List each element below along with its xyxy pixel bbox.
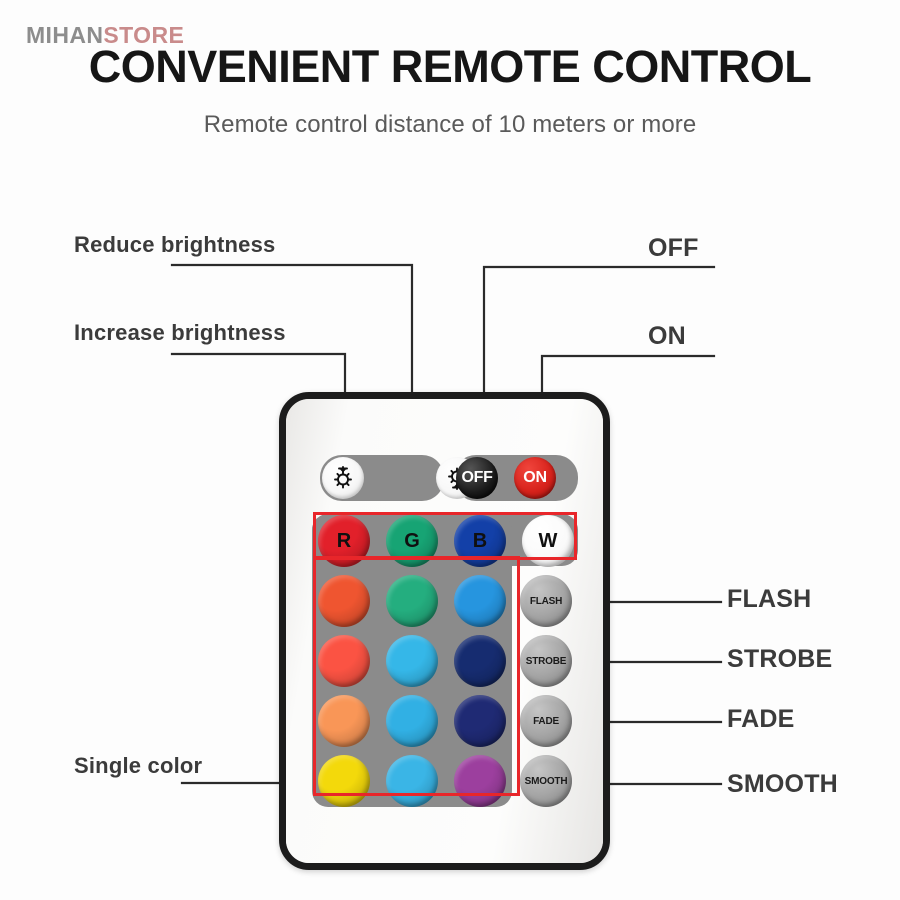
color-button-4-2[interactable] bbox=[454, 755, 506, 807]
on-button[interactable]: ON bbox=[514, 457, 556, 499]
callout-strobe: STROBE bbox=[727, 645, 832, 674]
flash-button[interactable]: FLASH bbox=[520, 575, 572, 627]
page-subtitle: Remote control distance of 10 meters or … bbox=[0, 111, 900, 139]
reduce-brightness-button[interactable] bbox=[322, 457, 364, 499]
color-button-w[interactable]: W bbox=[522, 515, 574, 567]
color-button-label: W bbox=[539, 530, 558, 553]
color-button-3-0[interactable] bbox=[318, 695, 370, 747]
infographic-page: MIHANSTORE CONVENIENT REMOTE CONTROL Rem… bbox=[0, 0, 900, 900]
color-button-1-0[interactable] bbox=[318, 575, 370, 627]
remote-control-device: OFF ON R G B W bbox=[279, 392, 610, 870]
remote-faceplate: OFF ON R G B W bbox=[286, 399, 603, 863]
color-button-label: R bbox=[337, 530, 351, 553]
off-button[interactable]: OFF bbox=[456, 457, 498, 499]
color-button-1-2[interactable] bbox=[454, 575, 506, 627]
callout-reduce-brightness: Reduce brightness bbox=[74, 232, 275, 258]
color-button-2-1[interactable] bbox=[386, 635, 438, 687]
color-button-3-1[interactable] bbox=[386, 695, 438, 747]
color-button-r[interactable]: R bbox=[318, 515, 370, 567]
color-button-label: B bbox=[473, 530, 487, 553]
color-button-4-1[interactable] bbox=[386, 755, 438, 807]
fade-button[interactable]: FADE bbox=[520, 695, 572, 747]
page-title: CONVENIENT REMOTE CONTROL bbox=[0, 43, 900, 90]
callout-increase-brightness: Increase brightness bbox=[74, 320, 286, 346]
callout-single-color: Single color bbox=[74, 753, 202, 779]
color-button-3-2[interactable] bbox=[454, 695, 506, 747]
color-button-4-0[interactable] bbox=[318, 755, 370, 807]
callout-on: ON bbox=[648, 322, 686, 351]
color-button-label: G bbox=[404, 530, 420, 553]
smooth-button[interactable]: SMOOTH bbox=[520, 755, 572, 807]
sun-down-icon bbox=[328, 463, 358, 493]
callout-smooth: SMOOTH bbox=[727, 770, 838, 799]
strobe-button[interactable]: STROBE bbox=[520, 635, 572, 687]
color-button-2-0[interactable] bbox=[318, 635, 370, 687]
color-button-g[interactable]: G bbox=[386, 515, 438, 567]
callout-flash: FLASH bbox=[727, 585, 811, 614]
callout-off: OFF bbox=[648, 234, 699, 263]
color-button-2-2[interactable] bbox=[454, 635, 506, 687]
color-button-b[interactable]: B bbox=[454, 515, 506, 567]
color-button-1-1[interactable] bbox=[386, 575, 438, 627]
callout-fade: FADE bbox=[727, 705, 794, 734]
